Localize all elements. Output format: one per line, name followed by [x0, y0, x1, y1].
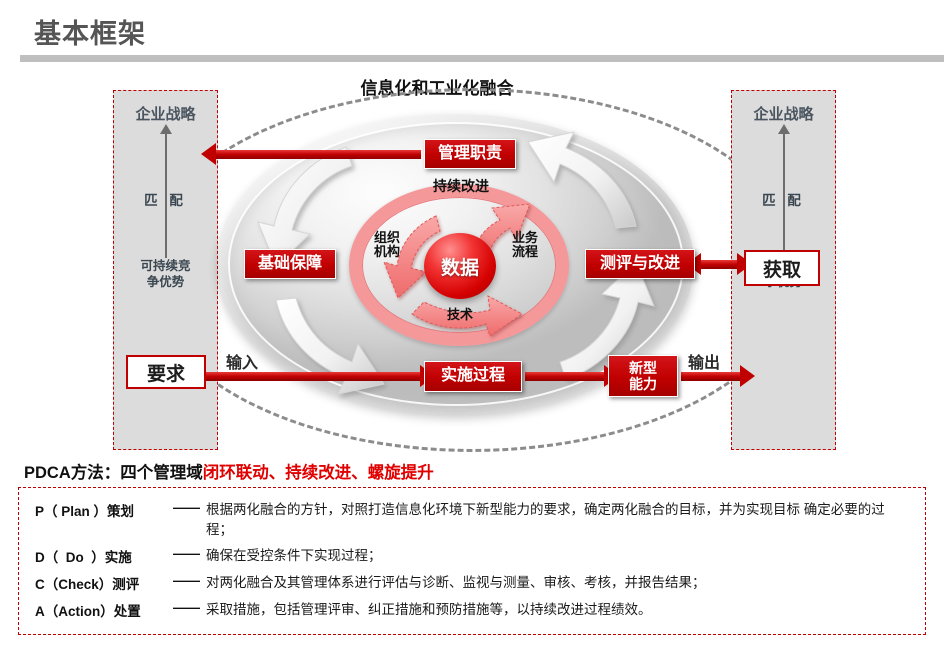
- box-requirement[interactable]: 要求: [126, 355, 206, 389]
- framework-diagram: 信息化和工业化融合 企业战略 匹 配 可持续竞争优势 企业战略 匹 配 可持续竞…: [0, 66, 944, 451]
- label-organization: 组织机构: [365, 231, 409, 260]
- pdca-heading-red: 闭环联动、持续改进、螺旋提升: [203, 464, 434, 482]
- label-output: 输出: [688, 349, 720, 373]
- panel-right-match-label: 匹 配: [732, 189, 835, 209]
- box-management-responsibility[interactable]: 管理职责: [424, 139, 516, 169]
- arrow-evaluation-to-acquire: [700, 260, 738, 269]
- label-technology: 技术: [438, 304, 482, 323]
- arrow-implementation-to-capability: [525, 372, 605, 381]
- box-implementation-process[interactable]: 实施过程: [424, 361, 522, 392]
- pdca-key: P（ Plan ）策划: [35, 500, 167, 520]
- pdca-heading: PDCA方法：四个管理域闭环联动、持续改进、螺旋提升: [24, 459, 434, 483]
- panel-left-advantage-label: 可持续竞争优势: [114, 259, 217, 290]
- pdca-description: 对两化融合及其管理体系进行评估与诊断、监视与测量、审核、考核，并报告结果；: [206, 573, 909, 593]
- pdca-description: 确保在受控条件下实现过程；: [206, 546, 909, 566]
- pdca-row: A（Action）处置 —— 采取措施，包括管理评审、纠正措施和预防措施等，以持…: [35, 600, 909, 620]
- box-new-capability[interactable]: 新型能力: [608, 355, 678, 397]
- panel-left-strategy-label: 企业战略: [114, 103, 217, 124]
- pdca-dash: ——: [167, 600, 206, 615]
- pdca-description: 根据两化融合的方针，对照打造信息化环境下新型能力的要求，确定两化融合的目标，并为…: [206, 500, 909, 539]
- page-title: 基本框架: [34, 12, 146, 51]
- label-business-process: 业务流程: [503, 231, 547, 260]
- arrow-requirement-to-implementation: [206, 372, 421, 381]
- box-acquire[interactable]: 获取: [744, 250, 820, 286]
- pdca-heading-black: PDCA方法：四个管理域: [24, 464, 203, 482]
- pdca-row: C（Check）测评 —— 对两化融合及其管理体系进行评估与诊断、监视与测量、审…: [35, 573, 909, 593]
- pdca-dash: ——: [167, 500, 206, 515]
- pdca-key: A（Action）处置: [35, 600, 167, 620]
- label-continuous-improvement: 持续改进: [411, 176, 511, 196]
- pdca-dash: ——: [167, 546, 206, 561]
- panel-right-strategy-label: 企业战略: [732, 103, 835, 124]
- arrow-to-enterprise-strategy: [215, 150, 421, 159]
- pdca-row: D（ Do ）实施 —— 确保在受控条件下实现过程；: [35, 546, 909, 566]
- pdca-key: D（ Do ）实施: [35, 546, 167, 566]
- center-data-sphere: 数据: [424, 233, 496, 299]
- pdca-dash: ——: [167, 573, 206, 588]
- pdca-detail-box: P（ Plan ）策划 —— 根据两化融合的方针，对照打造信息化环境下新型能力的…: [18, 487, 926, 635]
- arrow-output: [681, 372, 741, 381]
- label-input: 输入: [226, 349, 258, 373]
- pdca-description: 采取措施，包括管理评审、纠正措施和预防措施等，以持续改进过程绩效。: [206, 600, 909, 620]
- pdca-row: P（ Plan ）策划 —— 根据两化融合的方针，对照打造信息化环境下新型能力的…: [35, 500, 909, 539]
- box-foundation-support[interactable]: 基础保障: [244, 249, 336, 279]
- pdca-key: C（Check）测评: [35, 573, 167, 593]
- panel-left-match-label: 匹 配: [114, 189, 217, 209]
- box-evaluation-improvement[interactable]: 测评与改进: [585, 249, 695, 279]
- title-divider: [20, 55, 944, 62]
